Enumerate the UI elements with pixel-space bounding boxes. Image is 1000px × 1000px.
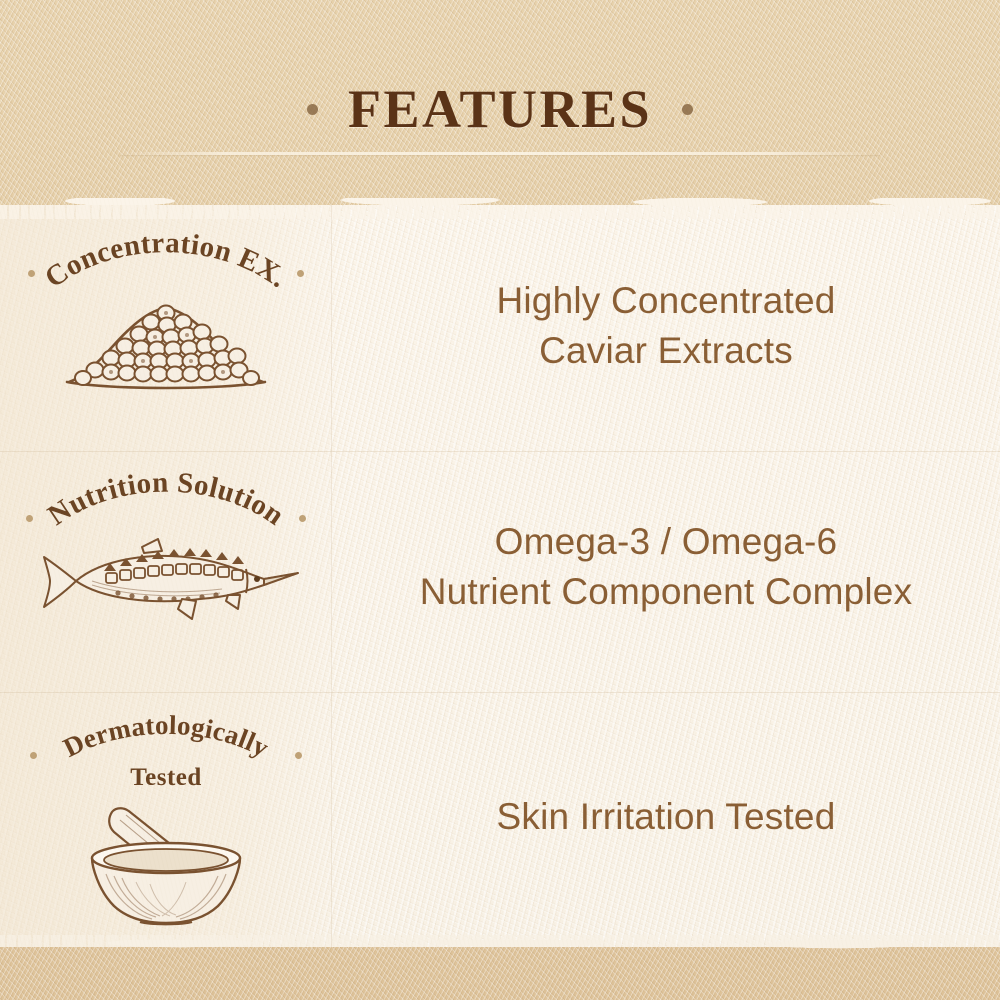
text-cell: Highly Concentrated Caviar Extracts [332, 205, 1000, 446]
text-cell: Skin Irritation Tested [332, 687, 1000, 947]
badge-arc-label: Nutrition Solution [42, 466, 290, 531]
page-title: FEATURES [348, 78, 652, 140]
feature-text: Omega-3 / Omega-6 Nutrient Component Com… [420, 517, 913, 615]
badge-cell: Nutrition Solution [0, 446, 332, 687]
badge-concentration-ex: Concentration EX. [16, 226, 316, 426]
feature-row: Dermatologically Tested [0, 687, 1000, 947]
badge-cell: Concentration EX. [0, 205, 332, 446]
feature-text: Highly Concentrated Caviar Extracts [496, 276, 835, 374]
feature-text: Skin Irritation Tested [497, 792, 836, 841]
sturgeon-fish-icon [16, 529, 316, 669]
badge-sub-label: Tested [16, 764, 316, 792]
svg-text:Concentration EX.: Concentration EX. [39, 227, 294, 294]
svg-text:Dermatologically: Dermatologically [59, 709, 275, 762]
features-poster: FEATURES Concentration EX. [0, 0, 1000, 1000]
badge-dermatologically-tested: Dermatologically Tested [16, 710, 316, 925]
badge-arc-label: Concentration EX. [39, 227, 294, 294]
header-divider [120, 152, 880, 155]
title-left-dot-icon [307, 104, 318, 115]
mortar-and-pestle-icon [16, 796, 316, 936]
title-right-dot-icon [682, 104, 693, 115]
badge-nutrition-solution: Nutrition Solution [16, 467, 316, 667]
svg-text:Nutrition Solution: Nutrition Solution [42, 466, 290, 531]
badge-arc-label: Dermatologically [59, 709, 275, 762]
feature-row: Concentration EX. [0, 205, 1000, 446]
poster-header: FEATURES [0, 0, 1000, 205]
caviar-mound-icon [16, 286, 316, 426]
feature-rows: Concentration EX. [0, 205, 1000, 947]
feature-row: Nutrition Solution [0, 446, 1000, 687]
badge-cell: Dermatologically Tested [0, 687, 332, 947]
text-cell: Omega-3 / Omega-6 Nutrient Component Com… [332, 446, 1000, 687]
title-row: FEATURES [0, 78, 1000, 140]
